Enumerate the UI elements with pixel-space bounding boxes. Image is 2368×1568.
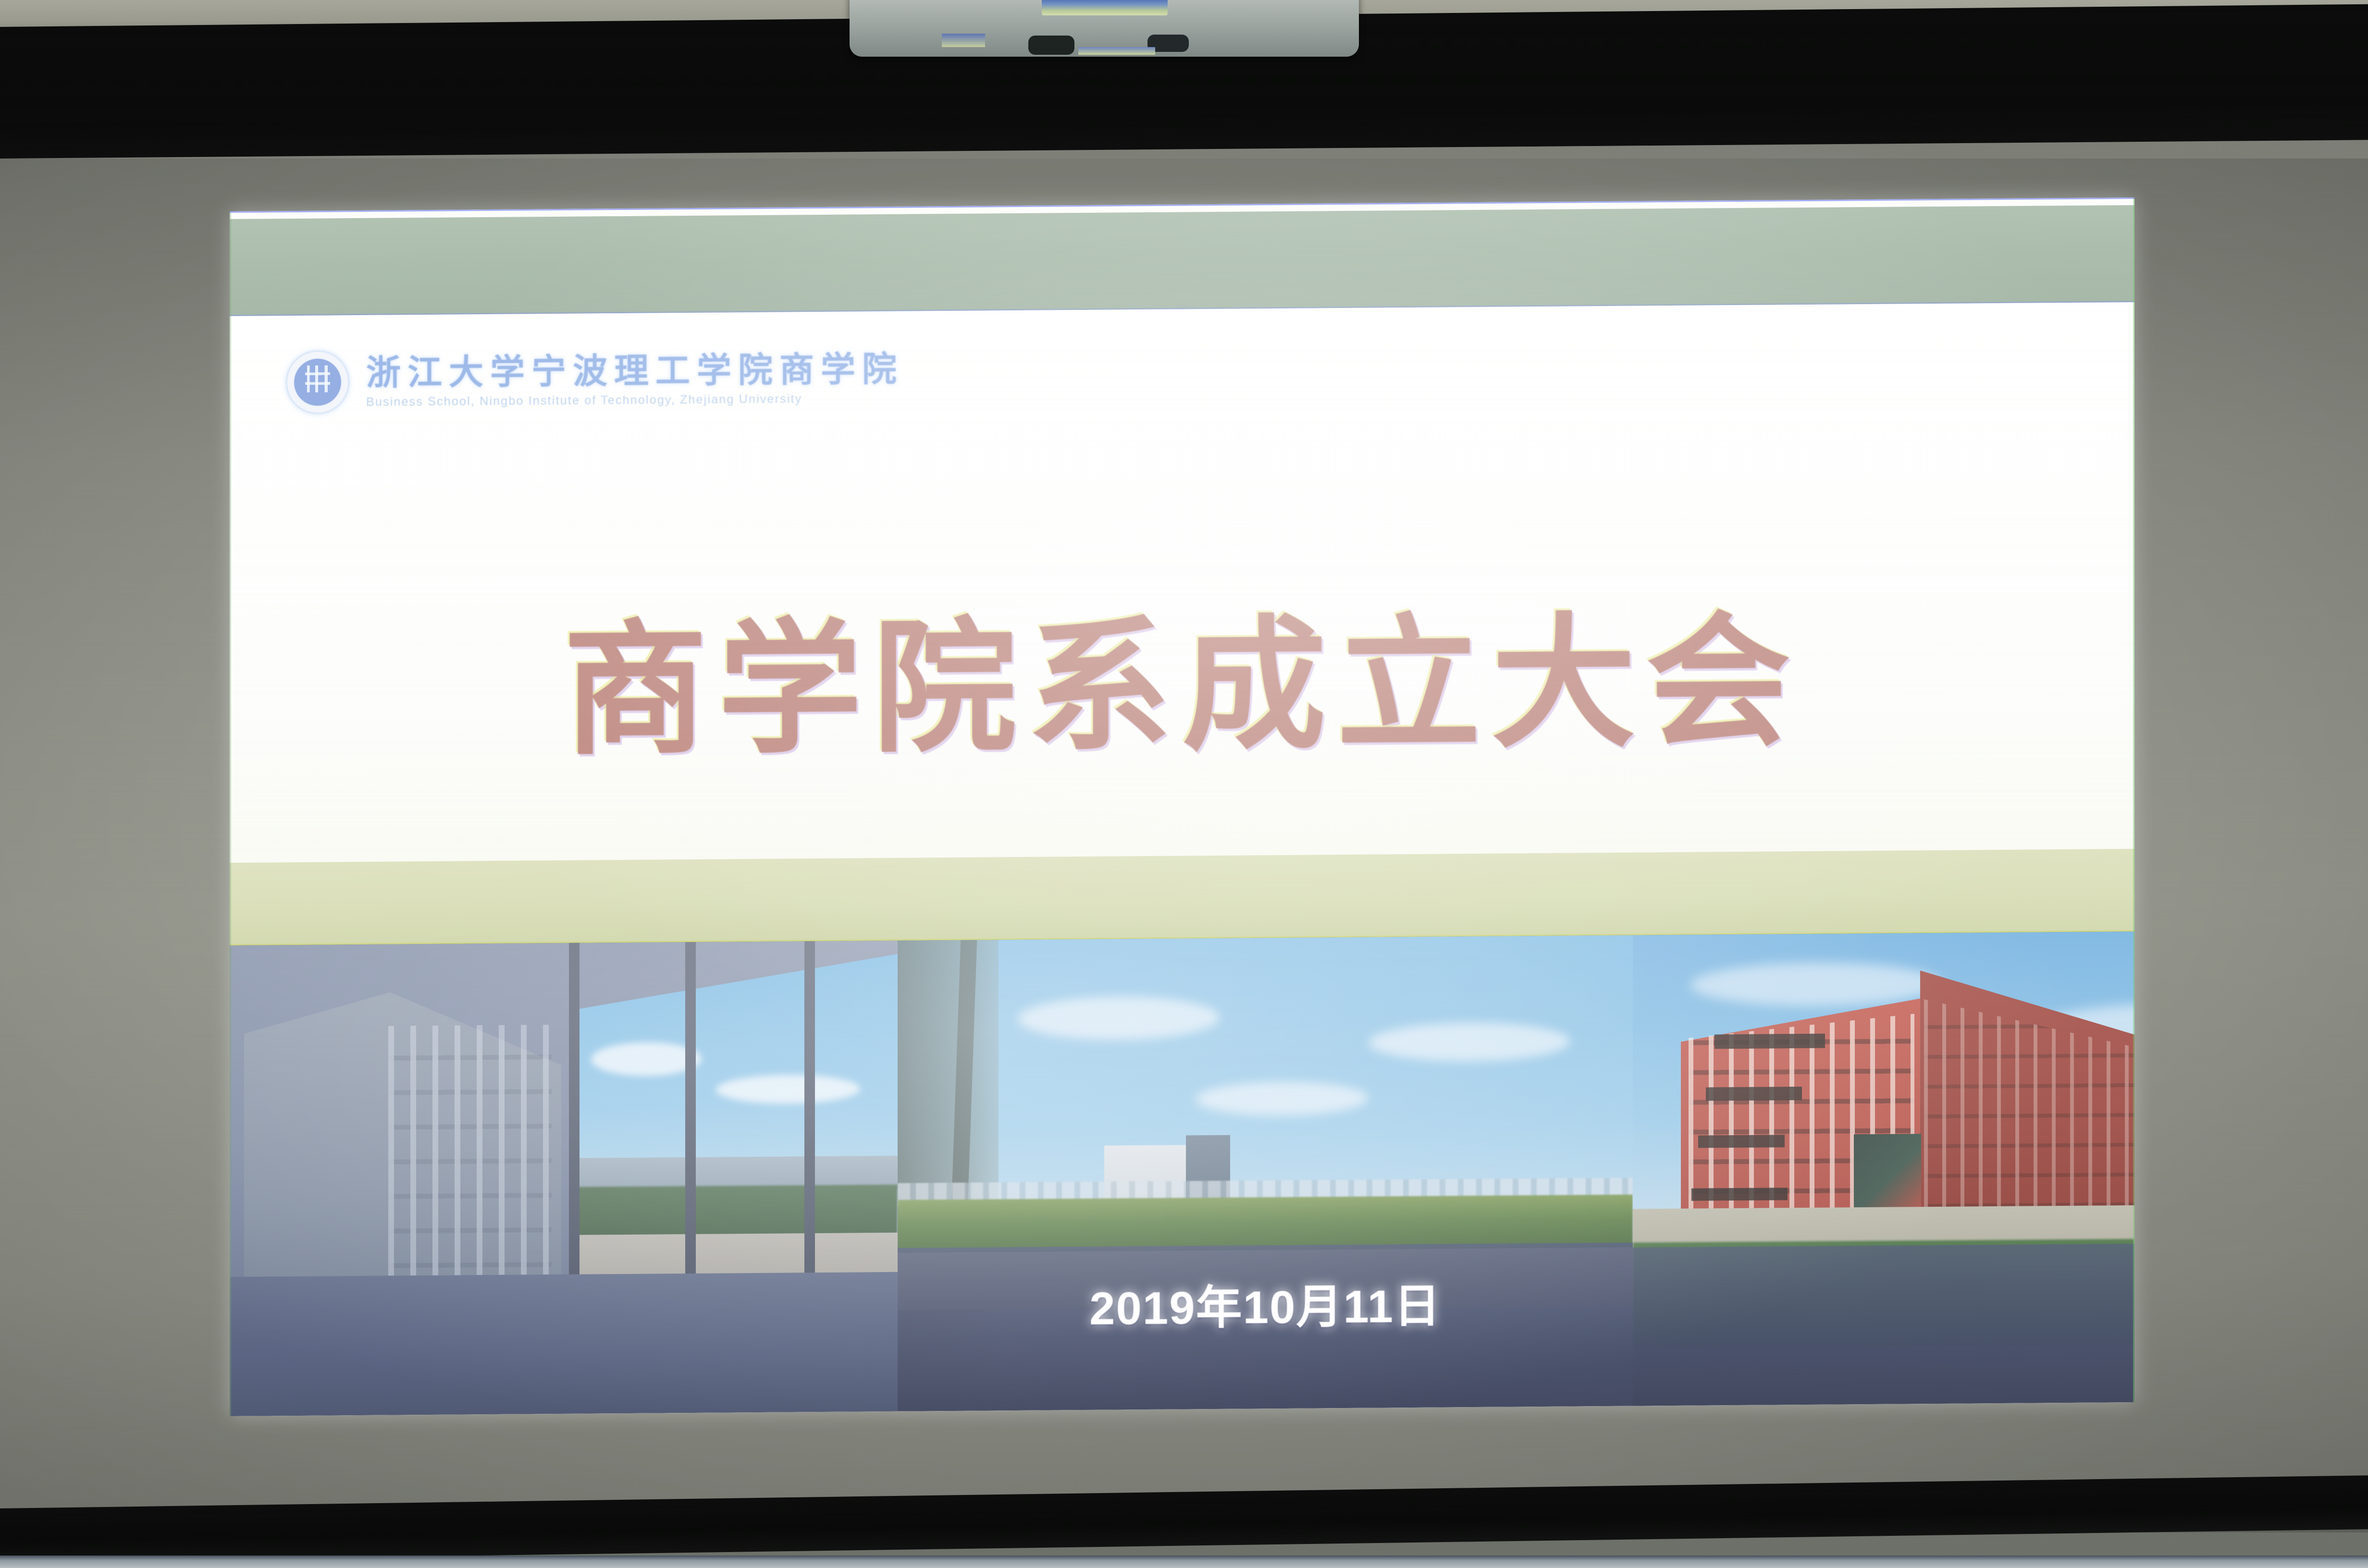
photo-panel-interior (230, 941, 898, 1416)
projector-lens-icon (1028, 36, 1074, 55)
logo-chinese-name: 浙江大学宁波理工学院商学院 (366, 352, 903, 390)
slide-top-band (230, 205, 2134, 316)
logo-text-block: 浙江大学宁波理工学院商学院 Business School, Ningbo In… (366, 352, 903, 408)
university-seal-icon (285, 350, 350, 415)
institution-logo-lockup: 浙江大学宁波理工学院商学院 Business School, Ningbo In… (285, 346, 903, 415)
window-treeline (572, 1185, 898, 1240)
window-glass-view (572, 954, 898, 1293)
slide-title: 商学院系成立大会 (230, 563, 2134, 785)
sky-cloud (1018, 996, 1220, 1041)
slide-canvas: 浙江大学宁波理工学院商学院 Business School, Ningbo In… (230, 197, 2134, 1416)
facade-slot (1714, 1034, 1825, 1049)
event-date-caption: 2019年10月11日 (1089, 1269, 1441, 1338)
interior-building-windows (388, 1025, 552, 1275)
facade-recess (1854, 1134, 1921, 1211)
projected-slide-photograph: 浙江大学宁波理工学院商学院 Business School, Ningbo In… (0, 0, 2368, 1568)
slide-lower-band (230, 849, 2134, 945)
foreground-shadow (1633, 1244, 2134, 1406)
photo-panel-brick-building (1633, 931, 2134, 1406)
projector-foot (1078, 47, 1155, 55)
photo-panel-campus: 2019年10月11日 (898, 935, 1633, 1411)
slide-photo-strip: 2019年10月11日 (230, 931, 2134, 1416)
projector-vent-strip (1042, 0, 1168, 15)
projector-side-tab (942, 34, 985, 47)
facade-slot (1698, 1135, 1785, 1148)
logo-english-name: Business School, Ningbo Institute of Tec… (366, 392, 903, 408)
facade-slot (1691, 1188, 1788, 1200)
sky-cloud (1369, 1022, 1570, 1062)
projector-device (850, 0, 1359, 57)
facade-slot (1706, 1087, 1802, 1101)
sky-cloud (1196, 1081, 1369, 1116)
lower-wall-strip (0, 1556, 2368, 1568)
interior-floor (230, 1272, 898, 1416)
